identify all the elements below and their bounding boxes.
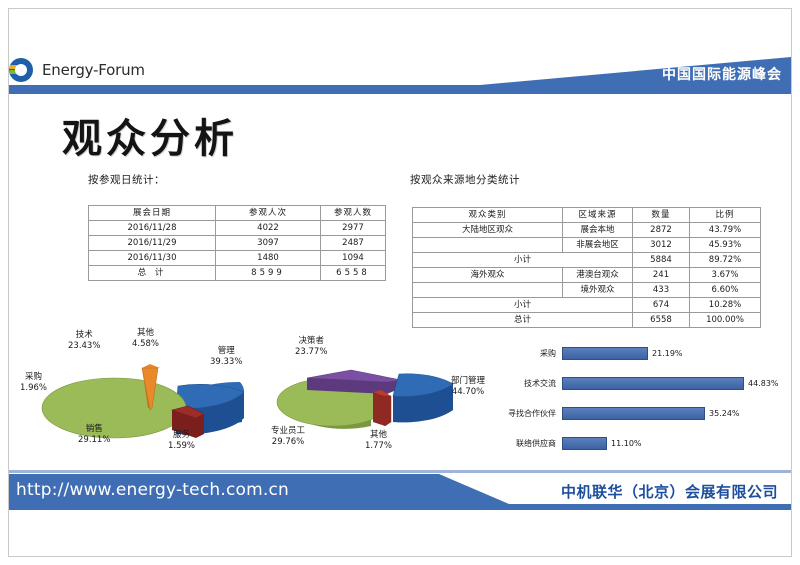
table-cell: 1094 (321, 251, 386, 266)
table-cell: 2016/11/28 (89, 221, 216, 236)
left-section-caption: 按参观日统计： (88, 172, 165, 187)
pie1-label-value: 23.43% (68, 341, 100, 352)
table-total-row: 总计 6558 100.00% (413, 313, 761, 328)
globe-c-logo-icon (8, 57, 34, 83)
pie2-label-value: 23.77% (295, 347, 327, 358)
table-cell: 境外观众 (563, 283, 633, 298)
table-cell: 6.60% (690, 283, 761, 298)
pie1-label: 销售 29.11% (78, 424, 110, 446)
table-cell: 3012 (633, 238, 690, 253)
pie2-slice-bumenguanli (393, 374, 453, 423)
pie2-label-name: 部门管理 (451, 376, 485, 387)
table-row: 2016/11/30 1480 1094 (89, 251, 386, 266)
table-cell: 2016/11/29 (89, 236, 216, 251)
table-cell: 港澳台观众 (563, 268, 633, 283)
bar-row: 联络供应商 11.10% (500, 436, 642, 451)
pie1-graphic (18, 330, 308, 465)
table-cell: 展会本地 (563, 223, 633, 238)
table-cell: 小计 (413, 298, 633, 313)
visit-purpose-bar-chart: 采购 21.19% 技术交流 44.83% 寻找合作伙伴 35.24% 联络供应… (500, 338, 790, 466)
visitors-by-day-table: 展会日期 参观人次 参观人数 2016/11/28 4022 2977 2016… (88, 205, 386, 281)
bar-row: 寻找合作伙伴 35.24% (500, 406, 740, 421)
pie2-label-value: 1.77% (365, 441, 392, 452)
pie2-label-value: 44.70% (451, 387, 485, 398)
table-cell: 433 (633, 283, 690, 298)
table-cell: 241 (633, 268, 690, 283)
table-header-cell: 参观人数 (321, 206, 386, 221)
table-cell (413, 283, 563, 298)
table-row: 2016/11/28 4022 2977 (89, 221, 386, 236)
table-subtotal-row: 小计 674 10.28% (413, 298, 761, 313)
bar-rect (562, 437, 607, 450)
pie1-label-name: 采购 (20, 372, 47, 383)
pie2-label-name: 其他 (365, 430, 392, 441)
pie2-label-name: 专业员工 (271, 426, 305, 437)
pie2-label: 其他 1.77% (365, 430, 392, 452)
bar-value-label: 44.83% (744, 379, 779, 388)
pie1-label-name: 技术 (68, 330, 100, 341)
pie1-label: 服务 1.59% (168, 430, 195, 452)
pie2-label: 部门管理 44.70% (451, 376, 485, 398)
table-header-cell: 数量 (633, 208, 690, 223)
table-header-row: 展会日期 参观人次 参观人数 (89, 206, 386, 221)
pie2-label: 决策者 23.77% (295, 336, 327, 358)
pie2-slice-juecezhe (307, 370, 401, 394)
brand-logo: Energy-Forum (8, 55, 145, 85)
table-cell: 45.93% (690, 238, 761, 253)
footer-company-name: 中机联华（北京）会展有限公司 (561, 481, 778, 502)
pie1-slice-xiaoshou (42, 378, 186, 438)
footer-url[interactable]: http://www.energy-tech.com.cn (16, 480, 289, 500)
pie1-label-name: 服务 (168, 430, 195, 441)
table-total-row: 总 计 8599 6558 (89, 266, 386, 281)
table-row: 2016/11/29 3097 2487 (89, 236, 386, 251)
logo-text: Energy-Forum (42, 61, 145, 79)
pie1-label-value: 39.33% (210, 357, 242, 368)
table-cell: 10.28% (690, 298, 761, 313)
bar-category-label: 技术交流 (500, 378, 562, 389)
visitor-job-level-pie-chart: 决策者 23.77% 专业员工 29.76% 其他 1.77% 部门管理 44.… (275, 330, 510, 465)
bar-category-label: 寻找合作伙伴 (500, 408, 562, 419)
pie1-label-value: 1.96% (20, 383, 47, 394)
table-cell: 总计 (413, 313, 633, 328)
visitor-job-function-pie-chart: 技术 23.43% 其他 4.58% 管理 39.33% 采购 1.96% 销售… (18, 330, 308, 465)
bar-rect (562, 377, 744, 390)
table-header-cell: 观众类别 (413, 208, 563, 223)
bar-category-label: 联络供应商 (500, 438, 562, 449)
page-title: 观众分析 (62, 106, 238, 164)
pie1-label-value: 1.59% (168, 441, 195, 452)
bar-rect (562, 407, 705, 420)
bar-row: 技术交流 44.83% (500, 376, 779, 391)
right-section-caption: 按观众来源地分类统计 (410, 172, 520, 187)
table-cell: 3.67% (690, 268, 761, 283)
slide-canvas: Energy-Forum 中国国际能源峰会 观众分析 按参观日统计： 按观众来源… (0, 0, 800, 565)
pie2-label: 专业员工 29.76% (271, 426, 305, 448)
table-cell: 5884 (633, 253, 690, 268)
bar-row: 采购 21.19% (500, 346, 683, 361)
pie1-label-name: 管理 (210, 346, 242, 357)
pie1-label-name: 销售 (78, 424, 110, 435)
table-cell: 674 (633, 298, 690, 313)
table-header-row: 观众类别 区域来源 数量 比例 (413, 208, 761, 223)
table-cell: 2016/11/30 (89, 251, 216, 266)
table-header-cell: 展会日期 (89, 206, 216, 221)
table-cell: 6558 (321, 266, 386, 281)
pie2-label-value: 29.76% (271, 437, 305, 448)
visitors-by-origin-table: 观众类别 区域来源 数量 比例 大陆地区观众 展会本地 2872 43.79% … (412, 207, 761, 328)
table-cell: 总 计 (89, 266, 216, 281)
pie1-label: 其他 4.58% (132, 328, 159, 350)
table-header-cell: 参观人次 (216, 206, 321, 221)
pie2-slice-qita (373, 390, 391, 426)
table-cell: 89.72% (690, 253, 761, 268)
table-cell: 大陆地区观众 (413, 223, 563, 238)
table-cell: 1480 (216, 251, 321, 266)
table-cell: 8599 (216, 266, 321, 281)
pie1-label: 采购 1.96% (20, 372, 47, 394)
table-cell: 43.79% (690, 223, 761, 238)
table-cell: 2872 (633, 223, 690, 238)
pie1-label: 管理 39.33% (210, 346, 242, 368)
table-row: 大陆地区观众 展会本地 2872 43.79% (413, 223, 761, 238)
table-cell: 100.00% (690, 313, 761, 328)
bar-value-label: 35.24% (705, 409, 740, 418)
table-row: 非展会地区 3012 45.93% (413, 238, 761, 253)
bar-value-label: 21.19% (648, 349, 683, 358)
pie1-label: 技术 23.43% (68, 330, 100, 352)
table-cell: 4022 (216, 221, 321, 236)
table-header-cell: 区域来源 (563, 208, 633, 223)
table-subtotal-row: 小计 5884 89.72% (413, 253, 761, 268)
table-cell: 3097 (216, 236, 321, 251)
bar-value-label: 11.10% (607, 439, 642, 448)
table-cell: 2977 (321, 221, 386, 236)
table-cell (413, 238, 563, 253)
header-title: 中国国际能源峰会 (662, 64, 782, 84)
pie1-label-value: 4.58% (132, 339, 159, 350)
table-cell: 小计 (413, 253, 633, 268)
pie1-label-name: 其他 (132, 328, 159, 339)
bar-category-label: 采购 (500, 348, 562, 359)
pie2-label-name: 决策者 (295, 336, 327, 347)
table-cell: 海外观众 (413, 268, 563, 283)
table-header-cell: 比例 (690, 208, 761, 223)
pie1-label-value: 29.11% (78, 435, 110, 446)
bar-rect (562, 347, 648, 360)
table-cell: 6558 (633, 313, 690, 328)
table-row: 海外观众 港澳台观众 241 3.67% (413, 268, 761, 283)
table-cell: 2487 (321, 236, 386, 251)
table-cell: 非展会地区 (563, 238, 633, 253)
table-row: 境外观众 433 6.60% (413, 283, 761, 298)
